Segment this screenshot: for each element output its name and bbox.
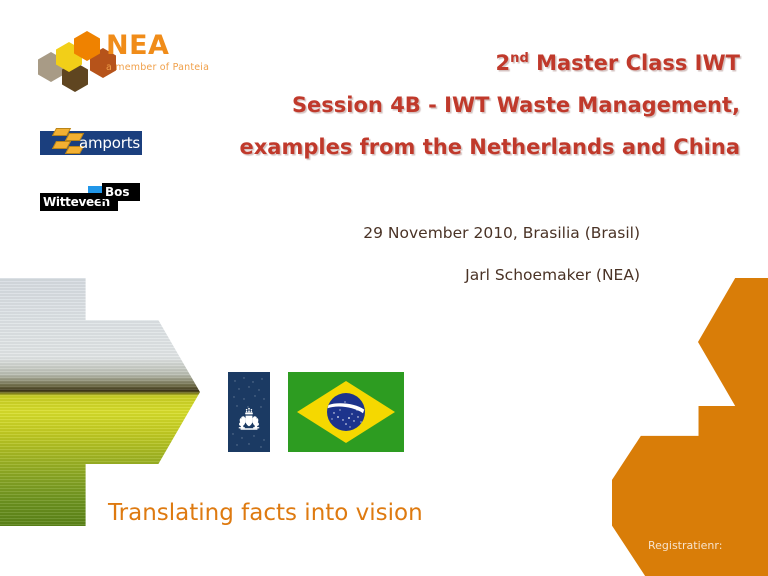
title-ordinal-suffix: nd	[510, 51, 529, 66]
registration-number-label: Registratienr:	[648, 540, 722, 551]
nea-logo-tagline: a member of Panteia	[106, 63, 209, 73]
title-line-1: 2nd Master Class IWT	[230, 42, 740, 84]
witteveen-bos-blue-accent-icon	[88, 186, 102, 193]
nea-logo-name: NEA	[106, 32, 209, 59]
dutch-coat-of-arms-icon	[228, 372, 270, 452]
witteveen-bos-logo: Witteveen + Bos	[40, 183, 140, 213]
title-line-2: Session 4B - IWT Waste Management,	[230, 84, 740, 126]
subtitle-presenter: Jarl Schoemaker (NEA)	[180, 254, 640, 296]
slide-title: 2nd Master Class IWT Session 4B - IWT Wa…	[230, 42, 740, 168]
landscape-photo-chevron	[0, 278, 200, 526]
amports-logo: amports	[40, 127, 142, 159]
nea-hexagon-mark-icon	[38, 30, 106, 86]
slide-subtitle: 29 November 2010, Brasilia (Brasil) Jarl…	[180, 212, 640, 296]
orange-chevron-upper	[698, 278, 768, 406]
presentation-slide: Registratienr: NEA a member of Panteia a…	[0, 0, 768, 576]
netherlands-government-logo	[228, 372, 270, 452]
nea-logo: NEA a member of Panteia	[38, 28, 228, 86]
subtitle-date-location: 29 November 2010, Brasilia (Brasil)	[180, 212, 640, 254]
brazil-flag	[288, 372, 404, 452]
title-line-3: examples from the Netherlands and China	[230, 126, 740, 168]
brazil-flag-icon	[288, 372, 404, 452]
title-ordinal-number: 2	[496, 51, 511, 75]
title-line-1-rest: Master Class IWT	[529, 51, 740, 75]
nea-logo-text: NEA a member of Panteia	[106, 32, 209, 73]
witteveen-bos-name-right: Bos	[105, 184, 130, 201]
amports-logo-name: amports	[79, 136, 140, 151]
company-tagline: Translating facts into vision	[108, 500, 423, 528]
